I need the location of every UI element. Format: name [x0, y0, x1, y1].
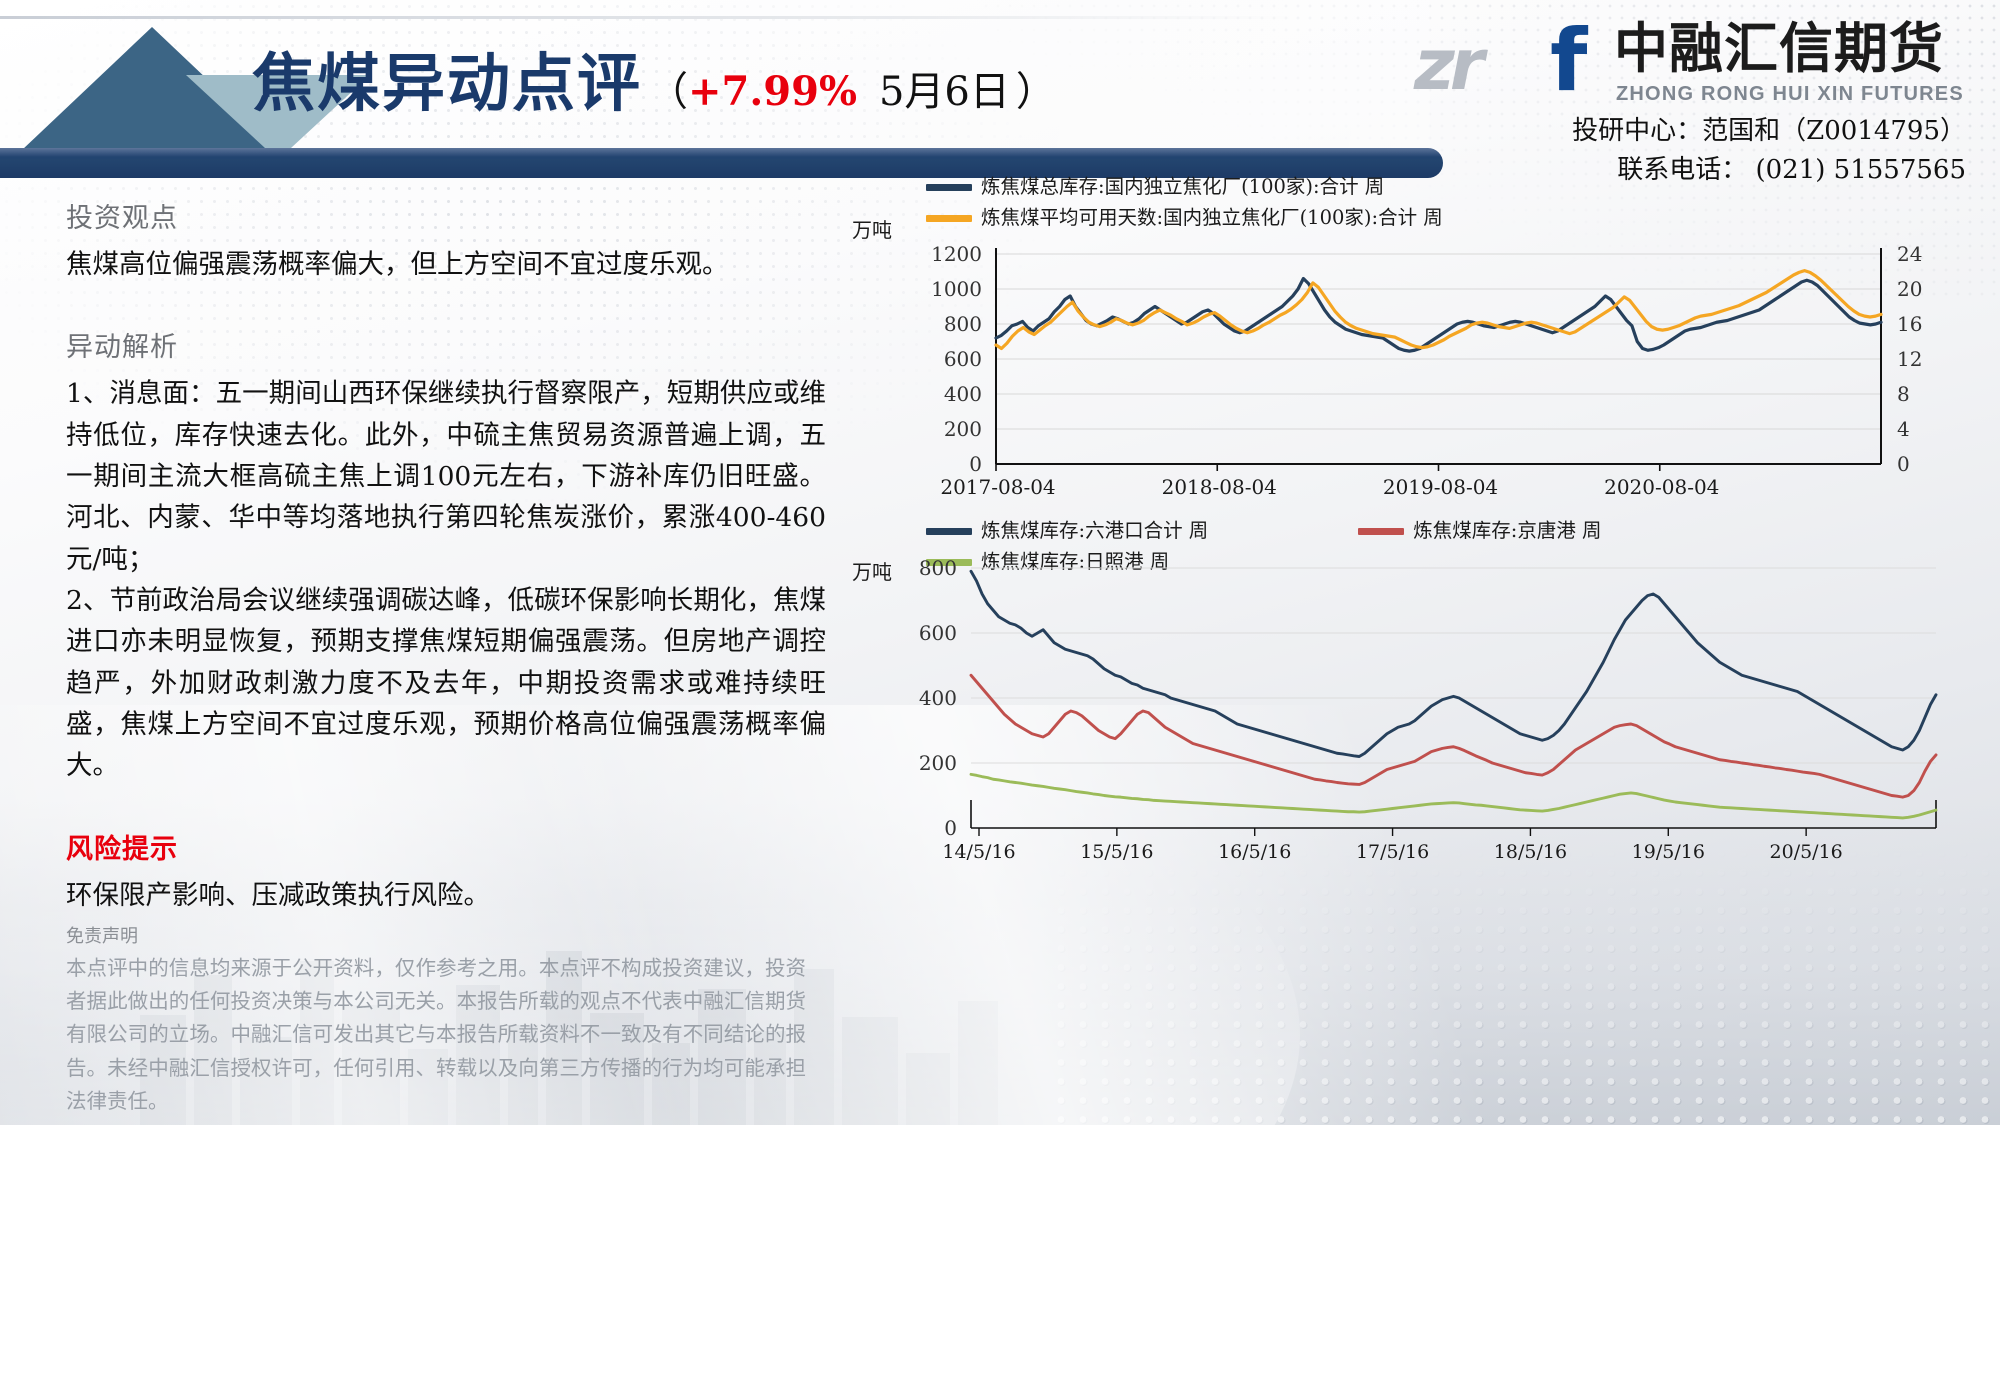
svg-text:1000: 1000: [931, 277, 982, 301]
report-date: 5月6日: [879, 72, 1010, 112]
chart-canvas-bot: 020040060080014/5/1615/5/1616/5/1617/5/1…: [846, 520, 1976, 870]
svg-text:18/5/16: 18/5/16: [1494, 841, 1567, 863]
svg-text:14/5/16: 14/5/16: [942, 841, 1015, 863]
svg-text:2019-08-04: 2019-08-04: [1383, 475, 1498, 499]
svg-text:24: 24: [1897, 242, 1922, 266]
report-body: 投资观点 焦煤高位偏强震荡概率偏大，但上方空间不宜过度乐观。 异动解析 1、消息…: [66, 196, 826, 1118]
analysis-paragraph-1: 1、消息面：五一期间山西环保继续执行督察限产，短期供应或维持低位，库存快速去化。…: [66, 373, 826, 580]
chart-canvas-top: 020040060080010001200048121620242017-08-…: [846, 176, 1976, 506]
section-heading-analysis: 异动解析: [66, 325, 826, 364]
contact-analyst: 投研中心：范国和（Z0014795）: [1572, 112, 1966, 151]
svg-text:600: 600: [944, 347, 982, 371]
svg-text:4: 4: [1897, 417, 1910, 441]
investment-view-text: 焦煤高位偏强震荡概率偏大，但上方空间不宜过度乐观。: [66, 244, 826, 285]
svg-text:2017-08-04: 2017-08-04: [940, 475, 1055, 499]
svg-text:0: 0: [1897, 452, 1910, 476]
svg-text:200: 200: [919, 751, 957, 775]
svg-text:20/5/16: 20/5/16: [1770, 841, 1843, 863]
page-title: 焦煤异动点评 （ +7.99% 5月6日 ）: [252, 52, 1056, 115]
svg-text:17/5/16: 17/5/16: [1356, 841, 1429, 863]
svg-text:12: 12: [1897, 347, 1922, 371]
header-blue-bar-sheen: [0, 148, 1443, 157]
price-change-badge: +7.99%: [688, 72, 857, 112]
chart-port-inventory: 炼焦煤库存:六港口合计 周 炼焦煤库存:京唐港 周 炼焦煤库存:日照港 周 万吨…: [846, 520, 1976, 870]
company-logo: zr f 中融汇信期货 ZHONG RONG HUI XIN FUTURES: [1414, 12, 1974, 104]
svg-text:16/5/16: 16/5/16: [1218, 841, 1291, 863]
page-header: 焦煤异动点评 （ +7.99% 5月6日 ） zr f 中融汇信期货 ZHONG…: [0, 0, 2000, 178]
svg-text:600: 600: [919, 621, 957, 645]
svg-text:19/5/16: 19/5/16: [1632, 841, 1705, 863]
header-top-rule: [0, 16, 1290, 19]
svg-text:400: 400: [919, 686, 957, 710]
section-heading-investment-view: 投资观点: [66, 196, 826, 235]
section-heading-risk: 风险提示: [66, 827, 826, 866]
svg-text:0: 0: [969, 452, 982, 476]
svg-text:2020-08-04: 2020-08-04: [1604, 475, 1719, 499]
title-text: 焦煤异动点评: [252, 52, 642, 115]
risk-text: 环保限产影响、压减政策执行风险。: [66, 875, 826, 916]
disclaimer-text: 本点评中的信息均来源于公开资料，仅作参考之用。本点评不构成投资建议，投资者据此做…: [66, 952, 806, 1118]
background-hex-pattern: [1050, 825, 2000, 1125]
svg-text:0: 0: [944, 816, 957, 840]
svg-text:800: 800: [919, 556, 957, 580]
logo-zr-mark: zr: [1414, 30, 1479, 100]
svg-text:200: 200: [944, 417, 982, 441]
svg-text:16: 16: [1897, 312, 1922, 336]
chart-coking-coal-inventory: 炼焦煤总库存:国内独立焦化厂(100家):合计 周 炼焦煤平均可用天数:国内独立…: [846, 176, 1976, 506]
svg-text:8: 8: [1897, 382, 1910, 406]
logo-company-name-cn: 中融汇信期货: [1614, 22, 1944, 76]
svg-text:400: 400: [944, 382, 982, 406]
logo-company-name-en: ZHONG RONG HUI XIN FUTURES: [1616, 84, 1964, 104]
title-paren-close: ）: [1016, 72, 1056, 112]
title-paren-open: （: [648, 72, 688, 112]
disclaimer-heading: 免责声明: [66, 922, 826, 948]
svg-text:800: 800: [944, 312, 982, 336]
analysis-paragraph-2: 2、节前政治局会议继续强调碳达峰，低碳环保影响长期化，焦煤进口亦未明显恢复，预期…: [66, 580, 826, 787]
svg-text:15/5/16: 15/5/16: [1080, 841, 1153, 863]
svg-text:1200: 1200: [931, 242, 982, 266]
svg-text:2018-08-04: 2018-08-04: [1162, 475, 1277, 499]
svg-text:20: 20: [1897, 277, 1922, 301]
logo-f-mark: f: [1550, 18, 1587, 104]
